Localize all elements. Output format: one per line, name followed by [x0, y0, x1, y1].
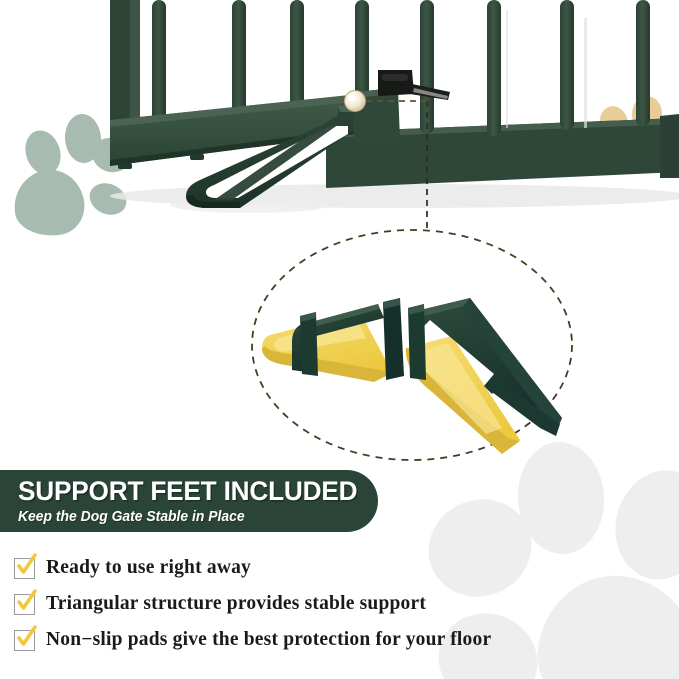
checkbox-checked-icon: [14, 594, 35, 615]
checkbox-checked-icon: [14, 558, 35, 579]
feature-bullet-list: Ready to use right away Triangular struc…: [14, 552, 654, 660]
banner-subtitle: Keep the Dog Gate Stable in Place: [18, 507, 364, 527]
list-item: Ready to use right away: [14, 552, 654, 584]
bullet-label: Non−slip pads give the best protection f…: [46, 629, 491, 651]
callout-magnifier: [0, 80, 679, 480]
bullet-label: Ready to use right away: [46, 557, 251, 579]
checkbox-checked-icon: [14, 630, 35, 651]
banner-title: SUPPORT FEET INCLUDED: [18, 476, 367, 506]
support-feet-banner: SUPPORT FEET INCLUDED Keep the Dog Gate …: [0, 470, 378, 532]
list-item: Non−slip pads give the best protection f…: [14, 624, 654, 656]
list-item: Triangular structure provides stable sup…: [14, 588, 654, 620]
product-marketing-image: SUPPORT FEET INCLUDED Keep the Dog Gate …: [0, 0, 679, 679]
bullet-label: Triangular structure provides stable sup…: [46, 593, 426, 615]
